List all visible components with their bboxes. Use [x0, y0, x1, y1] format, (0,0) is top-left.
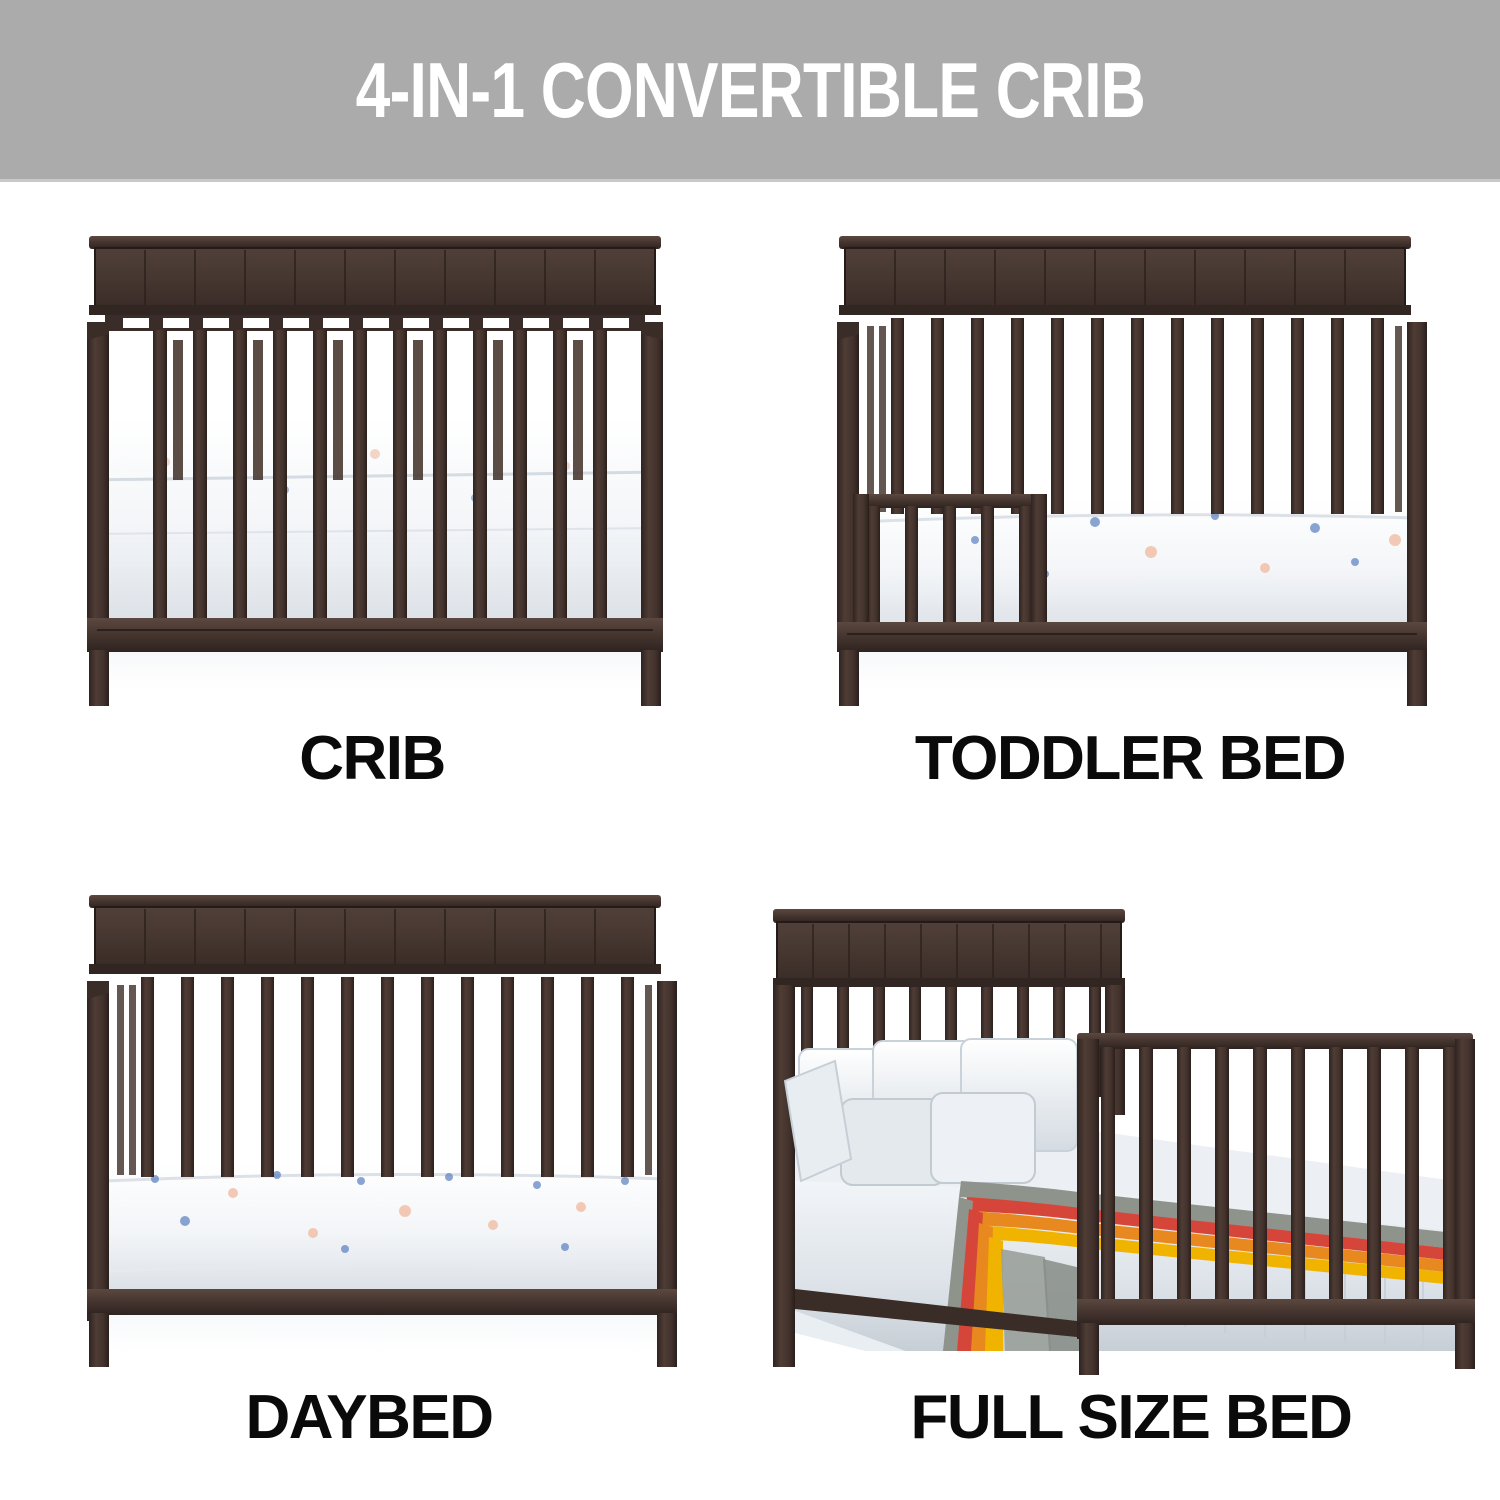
toddler-bed-illustration — [795, 222, 1455, 722]
daybed-figure — [0, 841, 750, 1381]
infographic-page: 4-IN-1 CONVERTIBLE CRIB — [0, 0, 1500, 1500]
panel-toddler-bed[interactable]: TODDLER BED — [750, 182, 1500, 841]
daybed-illustration — [45, 881, 705, 1381]
panel-full-size-bed[interactable]: FULL SIZE BED — [750, 841, 1500, 1500]
crib-illustration — [45, 222, 705, 722]
panel-label-crib: CRIB — [299, 728, 445, 790]
full-size-bed-figure — [750, 841, 1500, 1381]
panel-label-full-size-bed: FULL SIZE BED — [911, 1387, 1352, 1449]
header-banner: 4-IN-1 CONVERTIBLE CRIB — [0, 0, 1500, 182]
panel-crib[interactable]: CRIB — [0, 182, 750, 841]
panel-daybed[interactable]: DAYBED — [0, 841, 750, 1500]
crib-figure — [0, 182, 750, 722]
page-title: 4-IN-1 CONVERTIBLE CRIB — [355, 51, 1144, 129]
panel-label-daybed: DAYBED — [245, 1387, 492, 1449]
full-size-bed-illustration — [755, 881, 1495, 1381]
pillows — [785, 1039, 1077, 1185]
panel-label-toddler-bed: TODDLER BED — [915, 728, 1345, 790]
toddler-bed-figure — [750, 182, 1500, 722]
conversion-modes-grid: CRIB — [0, 182, 1500, 1500]
